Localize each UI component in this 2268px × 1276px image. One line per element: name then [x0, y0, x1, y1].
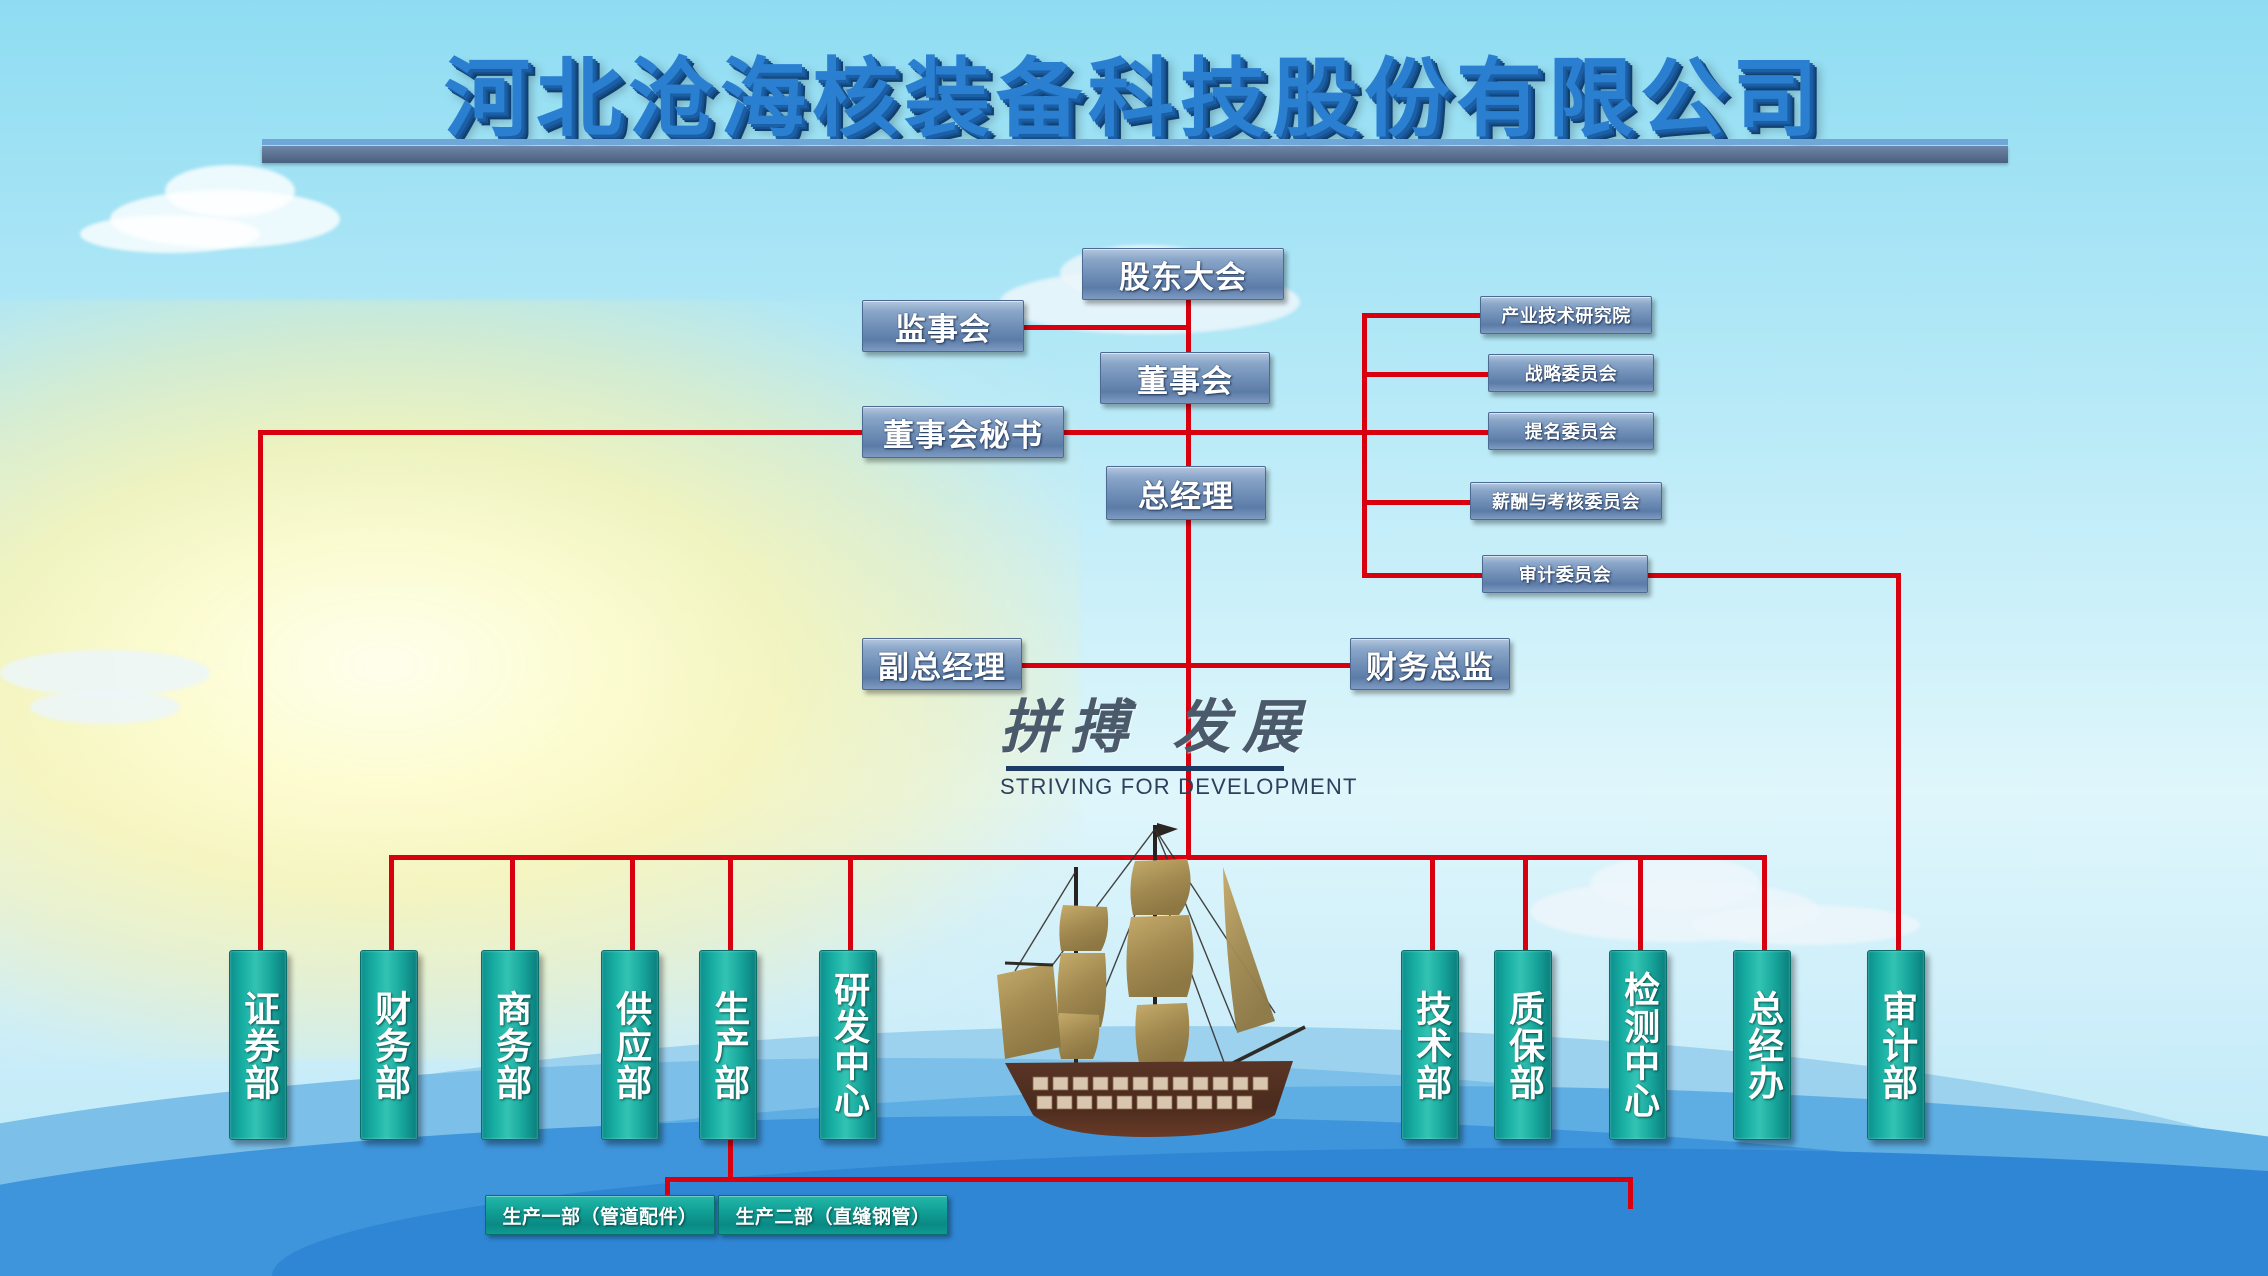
- connector-committee-2: [1362, 372, 1490, 377]
- motto-chinese: 拼搏 发展: [1000, 680, 1290, 764]
- sailing-ship-illustration: [975, 815, 1325, 1165]
- dept-securities[interactable]: 证券部: [229, 950, 287, 1140]
- node-supervisory-board[interactable]: 监事会: [862, 300, 1024, 352]
- node-label: 审计委员会: [1519, 561, 1612, 587]
- node-label: 提名委员会: [1525, 418, 1618, 444]
- node-general-manager[interactable]: 总经理: [1106, 466, 1266, 520]
- dept-label: 技术部: [1411, 990, 1449, 1101]
- node-committee-strategy[interactable]: 战略委员会: [1488, 354, 1654, 392]
- subunit-label: 生产一部（管道配件）: [502, 1202, 697, 1229]
- connector-dept-riser: [1523, 855, 1528, 955]
- connector-dept-riser: [389, 855, 394, 955]
- connector-left-spine-down: [258, 430, 263, 950]
- connector-dept-riser: [510, 855, 515, 955]
- cloud-decoration: [80, 215, 260, 253]
- connector-vp-cfo-row: [1020, 663, 1350, 668]
- cloud-decoration: [30, 690, 180, 724]
- node-board-secretary[interactable]: 董事会秘书: [862, 406, 1064, 458]
- node-label: 财务总监: [1366, 642, 1494, 687]
- node-label: 董事会: [1137, 356, 1233, 401]
- dept-label: 质保部: [1504, 990, 1542, 1101]
- subunit-production-one[interactable]: 生产一部（管道配件）: [485, 1195, 715, 1235]
- dept-rd-center[interactable]: 研发中心: [819, 950, 877, 1140]
- node-label: 董事会秘书: [883, 410, 1043, 455]
- node-label: 薪酬与考核委员会: [1492, 488, 1640, 514]
- connector-dept-riser: [1430, 855, 1435, 955]
- connector-committee-3: [1362, 430, 1490, 435]
- cloud-decoration: [1690, 905, 1920, 945]
- node-label: 股东大会: [1119, 252, 1247, 297]
- connector-secretary-row: [258, 430, 1362, 435]
- dept-testing-center[interactable]: 检测中心: [1609, 950, 1667, 1140]
- dept-technology[interactable]: 技术部: [1401, 950, 1459, 1140]
- node-deputy-general-manager[interactable]: 副总经理: [862, 638, 1022, 690]
- dept-audit[interactable]: 审计部: [1867, 950, 1925, 1140]
- ship-icon: [975, 815, 1325, 1165]
- node-committee-nomination[interactable]: 提名委员会: [1488, 412, 1654, 450]
- node-label: 总经理: [1138, 471, 1234, 516]
- dept-quality-assurance[interactable]: 质保部: [1494, 950, 1552, 1140]
- title-underline-bar: [262, 146, 2008, 163]
- dept-label: 财务部: [370, 990, 408, 1101]
- title-underline-thin: [262, 139, 2008, 145]
- node-committee-industrial-research[interactable]: 产业技术研究院: [1480, 296, 1652, 334]
- page-title: 河北沧海核装备科技股份有限公司: [0, 56, 2268, 142]
- node-shareholders-meeting[interactable]: 股东大会: [1082, 248, 1284, 300]
- dept-finance[interactable]: 财务部: [360, 950, 418, 1140]
- cloud-decoration: [165, 165, 295, 217]
- node-label: 产业技术研究院: [1501, 302, 1631, 328]
- dept-label: 商务部: [491, 990, 529, 1101]
- dept-supply[interactable]: 供应部: [601, 950, 659, 1140]
- dept-label: 检测中心: [1619, 971, 1657, 1119]
- connector-dept-riser: [728, 855, 733, 955]
- connector-production-sub-bus: [665, 1177, 1632, 1182]
- dept-label: 审计部: [1877, 990, 1915, 1101]
- dept-label: 总经办: [1743, 990, 1781, 1101]
- dept-label: 供应部: [611, 990, 649, 1101]
- company-title-text: 河北沧海核装备科技股份有限公司: [0, 56, 2268, 142]
- connector-committee-spine: [1362, 313, 1367, 578]
- dept-business[interactable]: 商务部: [481, 950, 539, 1140]
- company-motto: 拼搏 发展 STRIVING FOR DEVELOPMENT: [1000, 680, 1290, 800]
- connector-committee-5: [1362, 573, 1482, 578]
- dept-label: 生产部: [709, 990, 747, 1101]
- connector-committee-4: [1362, 500, 1472, 505]
- motto-english: STRIVING FOR DEVELOPMENT: [1000, 774, 1290, 800]
- node-committee-audit[interactable]: 审计委员会: [1482, 555, 1648, 593]
- connector-dept-riser: [1762, 855, 1767, 955]
- dept-production[interactable]: 生产部: [699, 950, 757, 1140]
- subunit-production-two[interactable]: 生产二部（直缝钢管）: [718, 1195, 948, 1235]
- org-chart-poster: 河北沧海核装备科技股份有限公司 股东大会: [0, 0, 2268, 1276]
- node-label: 监事会: [895, 304, 991, 349]
- connector-audit-right-down: [1896, 573, 1901, 950]
- connector-committee-1: [1362, 313, 1482, 318]
- node-board-of-directors[interactable]: 董事会: [1100, 352, 1270, 404]
- node-label: 副总经理: [878, 642, 1006, 687]
- motto-divider: [1006, 766, 1284, 771]
- connector-gm-down: [1186, 520, 1191, 666]
- connector-production-sub2: [1628, 1177, 1633, 1209]
- connector-dept-riser: [630, 855, 635, 955]
- connector-dept-riser: [848, 855, 853, 955]
- dept-label: 证券部: [239, 990, 277, 1101]
- node-label: 战略委员会: [1525, 360, 1618, 386]
- cloud-decoration: [1590, 855, 1760, 911]
- connector-supervisory-to-spine: [1022, 325, 1190, 330]
- dept-gm-office[interactable]: 总经办: [1733, 950, 1791, 1140]
- connector-dept-riser: [1638, 855, 1643, 955]
- node-cfo[interactable]: 财务总监: [1350, 638, 1510, 690]
- node-committee-remuneration[interactable]: 薪酬与考核委员会: [1470, 482, 1662, 520]
- subunit-label: 生产二部（直缝钢管）: [735, 1202, 930, 1229]
- dept-label: 研发中心: [829, 971, 867, 1119]
